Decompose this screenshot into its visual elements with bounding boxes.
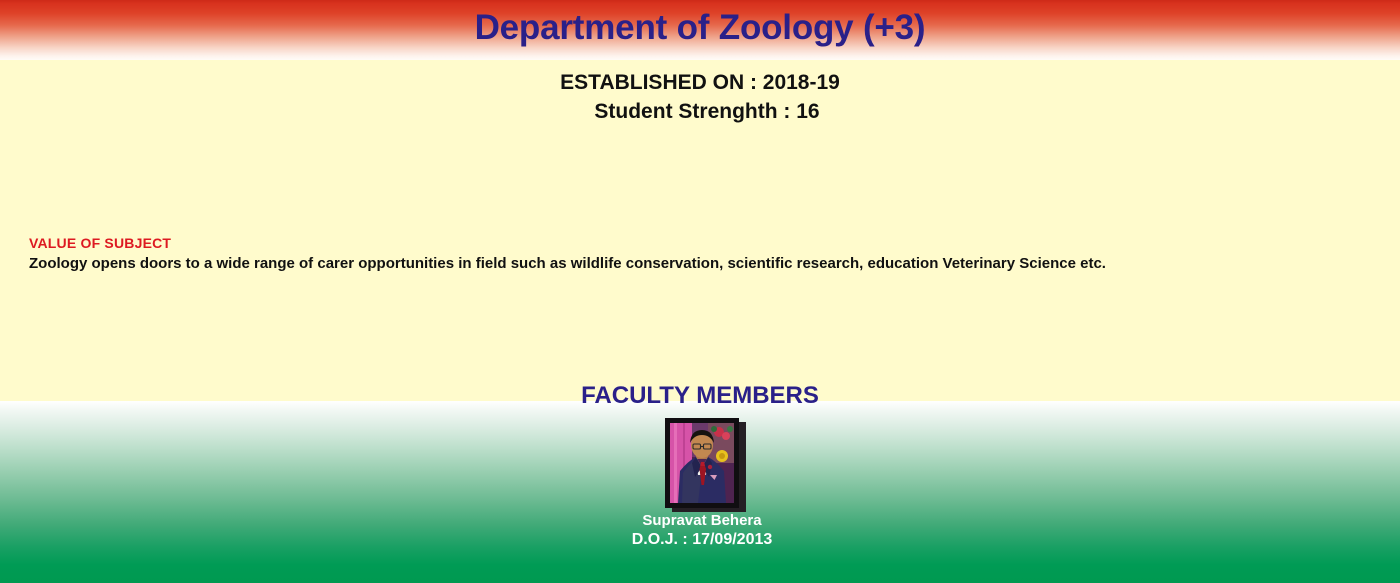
value-of-subject-heading: VALUE OF SUBJECT xyxy=(29,234,1379,252)
slide-canvas: Department of Zoology (+3) ESTABLISHED O… xyxy=(0,0,1400,583)
value-of-subject-section: VALUE OF SUBJECT Zoology opens doors to … xyxy=(29,234,1379,274)
department-meta: ESTABLISHED ON : 2018-19 Student Strengh… xyxy=(0,68,1400,126)
faculty-member-date-of-joining: D.O.J. : 17/09/2013 xyxy=(622,530,782,550)
faculty-members-heading: FACULTY MEMBERS xyxy=(0,381,1400,411)
portrait-illustration-icon xyxy=(670,423,734,503)
faculty-photo-wrapper xyxy=(665,418,739,508)
faculty-member-card: Supravat Behera D.O.J. : 17/09/2013 xyxy=(622,418,782,550)
page-title: Department of Zoology (+3) xyxy=(0,6,1400,50)
value-of-subject-body: Zoology opens doors to a wide range of c… xyxy=(29,254,1379,274)
student-strength-label: Student Strenghth : 16 xyxy=(0,97,1400,126)
faculty-member-name: Supravat Behera xyxy=(622,511,782,530)
faculty-portrait-photo xyxy=(665,418,739,508)
established-on-label: ESTABLISHED ON : 2018-19 xyxy=(0,68,1400,97)
